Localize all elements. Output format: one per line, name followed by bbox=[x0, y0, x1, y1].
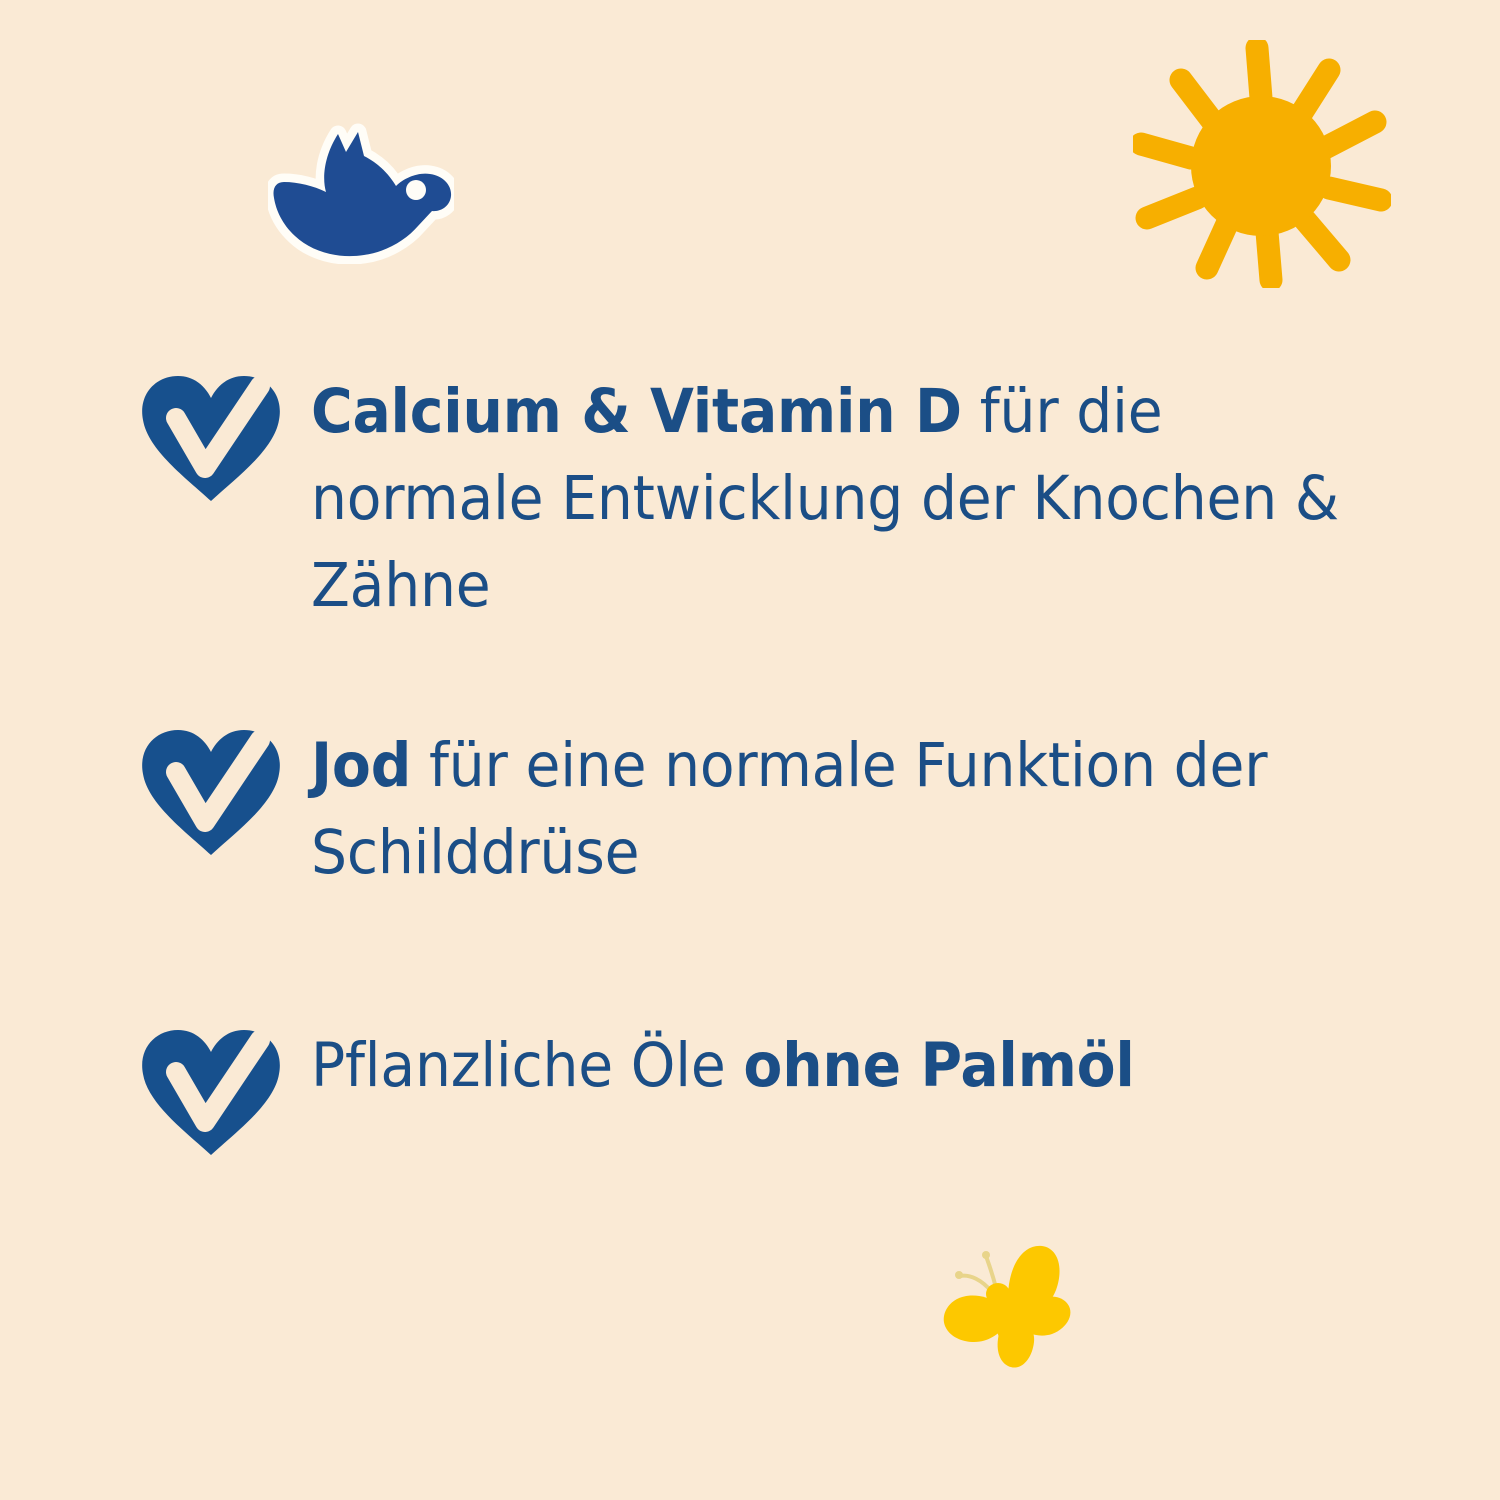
dove-icon bbox=[268, 112, 454, 264]
benefit-text-bold: Jod bbox=[311, 730, 411, 801]
benefit-item: Calcium & Vitamin D für die normale Entw… bbox=[140, 368, 1430, 629]
sun-icon bbox=[1133, 40, 1391, 288]
sun-rays bbox=[1141, 48, 1381, 280]
benefit-text: Jod für eine normale Funktion der Schild… bbox=[311, 722, 1352, 896]
benefit-text-rest: Pflanzliche Öle bbox=[311, 1030, 743, 1101]
heart-check-icon bbox=[140, 1028, 283, 1156]
dove-eye bbox=[406, 180, 426, 200]
benefit-item: Jod für eine normale Funktion der Schild… bbox=[140, 722, 1430, 896]
benefit-text-bold: ohne Palmöl bbox=[743, 1030, 1134, 1101]
benefit-item: Pflanzliche Öle ohne Palmöl bbox=[140, 1022, 1430, 1156]
dove-body bbox=[273, 132, 451, 256]
benefit-text-bold: Calcium & Vitamin D bbox=[311, 376, 962, 447]
sun-core bbox=[1191, 96, 1331, 236]
benefits-poster: Calcium & Vitamin D für die normale Entw… bbox=[0, 0, 1500, 1500]
butterfly-wings bbox=[944, 1246, 1071, 1368]
heart-check-icon bbox=[140, 728, 283, 856]
benefit-text: Calcium & Vitamin D für die normale Entw… bbox=[311, 368, 1352, 629]
butterfly-antennae bbox=[955, 1251, 996, 1292]
heart-check-icon bbox=[140, 374, 283, 502]
dove-outline bbox=[273, 132, 451, 256]
butterfly-icon bbox=[930, 1238, 1080, 1380]
benefit-text-rest: für eine normale Funktion der Schilddrüs… bbox=[311, 730, 1267, 888]
benefit-text: Pflanzliche Öle ohne Palmöl bbox=[311, 1022, 1352, 1109]
